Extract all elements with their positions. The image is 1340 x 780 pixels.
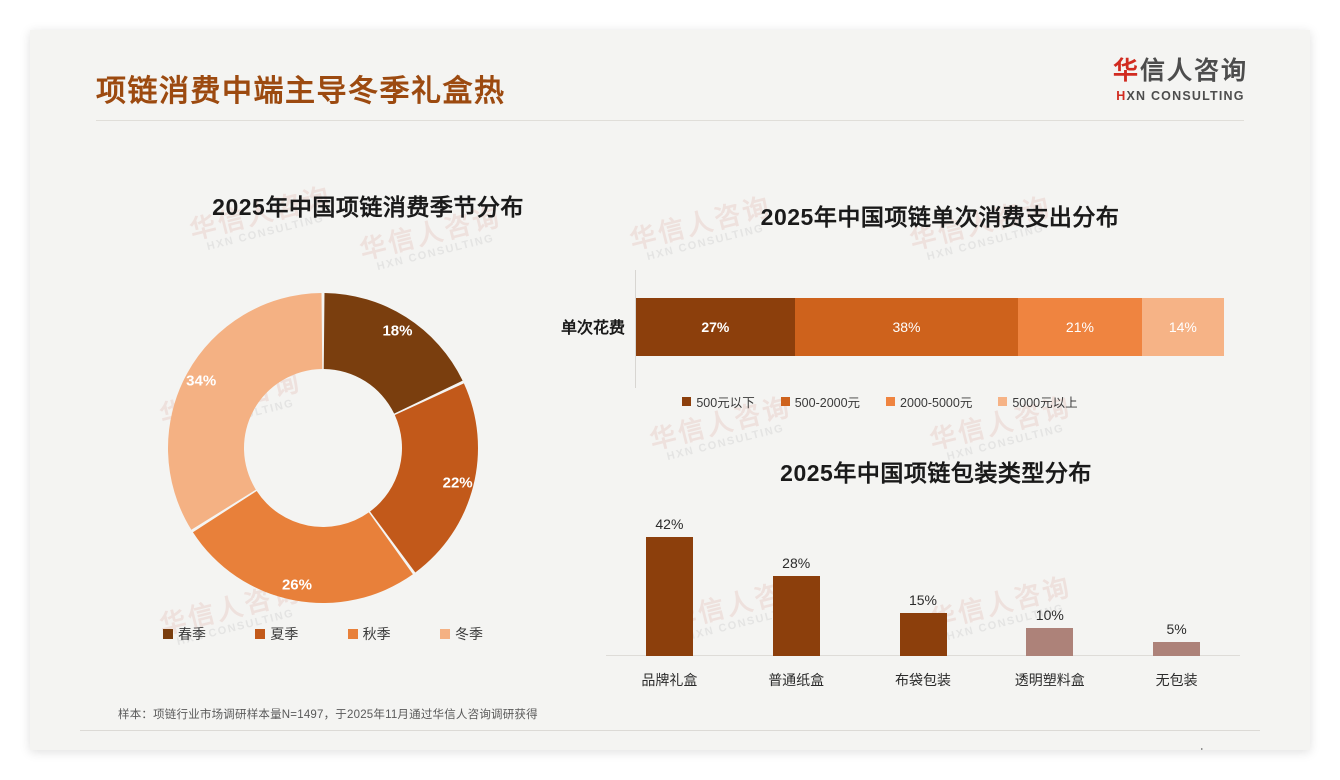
- segment-value: 14%: [1169, 319, 1197, 335]
- bar-category-label: 普通纸盒: [732, 656, 860, 690]
- logo-accent-char: 华: [1113, 57, 1140, 85]
- bar-rect[interactable]: [773, 576, 820, 656]
- legend-item-500元以下[interactable]: 500元以下: [682, 392, 754, 411]
- bar-rect[interactable]: [900, 613, 947, 656]
- legend-swatch: [163, 629, 173, 639]
- legend-item-春季[interactable]: 春季: [163, 624, 206, 644]
- stacked-segment-5000元以上[interactable]: 14%: [1142, 298, 1224, 356]
- legend-item-冬季[interactable]: 冬季: [440, 624, 483, 644]
- segment-value: 38%: [892, 319, 920, 335]
- donut-slice-label: 34%: [186, 373, 216, 390]
- legend-swatch: [886, 397, 895, 406]
- donut-chart: 18%22%26%34%: [163, 288, 483, 608]
- legend-label: 500元以下: [696, 392, 754, 411]
- legend-item-夏季[interactable]: 夏季: [255, 624, 298, 644]
- legend-swatch: [255, 629, 265, 639]
- logo-rest-chars: 信人咨询: [1140, 57, 1248, 85]
- slide-canvas: 华信人咨询HXN CONSULTING华信人咨询HXN CONSULTING华信…: [30, 30, 1310, 750]
- donut-slice-冬季[interactable]: [168, 293, 322, 530]
- bar-value-label: 28%: [782, 555, 810, 571]
- legend-swatch: [440, 629, 450, 639]
- bar-column-普通纸盒[interactable]: 28%普通纸盒: [732, 555, 860, 656]
- legend-label: 春季: [178, 624, 206, 644]
- legend-label: 5000元以上: [1012, 392, 1077, 411]
- legend-label: 500-2000元: [795, 392, 860, 411]
- slide-footer: ©2026.1 HXR华信人咨询 www.hxrcon.com: [30, 736, 1310, 750]
- company-logo: 华信人咨询 HXN CONSULTING: [1113, 58, 1248, 103]
- bar-category-label: 无包装: [1113, 656, 1241, 690]
- legend-item-秋季[interactable]: 秋季: [348, 624, 391, 644]
- footer-website[interactable]: www.hxrcon.com: [1173, 748, 1260, 750]
- bar-value-label: 15%: [909, 592, 937, 608]
- bar-category-label: 布袋包装: [859, 656, 987, 690]
- bar-category-label: 品牌礼盒: [605, 656, 733, 690]
- bar-column-无包装[interactable]: 5%无包装: [1113, 621, 1241, 656]
- header-divider: [96, 120, 1244, 121]
- donut-chart-legend: 春季夏季秋季冬季: [163, 624, 483, 644]
- bar-column-布袋包装[interactable]: 15%布袋包装: [859, 592, 987, 656]
- legend-swatch: [682, 397, 691, 406]
- segment-value: 21%: [1066, 319, 1094, 335]
- legend-item-5000元以上[interactable]: 5000元以上: [998, 392, 1077, 411]
- stacked-segment-500-2000元[interactable]: 38%: [795, 298, 1018, 356]
- bar-column-品牌礼盒[interactable]: 42%品牌礼盒: [605, 516, 733, 656]
- legend-label: 2000-5000元: [900, 392, 972, 411]
- bar-value-label: 42%: [655, 516, 683, 532]
- bar-rect[interactable]: [1026, 628, 1073, 656]
- bar-rect[interactable]: [646, 537, 693, 656]
- bar-chart-title: 2025年中国项链包装类型分布: [616, 454, 1256, 488]
- donut-slice-label: 18%: [382, 322, 412, 339]
- donut-slice-label: 26%: [282, 576, 312, 593]
- legend-label: 夏季: [270, 624, 298, 644]
- stacked-segment-2000-5000元[interactable]: 21%: [1018, 298, 1141, 356]
- bar-value-label: 5%: [1166, 621, 1186, 637]
- donut-svg: [163, 288, 483, 608]
- donut-chart-title: 2025年中国项链消费季节分布: [158, 188, 578, 222]
- logo-en-rest-chars: XN CONSULTING: [1127, 89, 1245, 103]
- stacked-bar-legend: 500元以下500-2000元2000-5000元5000元以上: [530, 392, 1230, 411]
- legend-swatch: [781, 397, 790, 406]
- stacked-bar-track: 27%38%21%14%: [636, 298, 1224, 356]
- bar-value-label: 10%: [1036, 607, 1064, 623]
- footer-copyright: ©2026.1 HXR华信人咨询: [80, 748, 209, 750]
- logo-chinese-text: 华信人咨询: [1113, 58, 1248, 86]
- stacked-segment-500元以下[interactable]: 27%: [636, 298, 795, 356]
- bar-chart: 42%品牌礼盒28%普通纸盒15%布袋包装10%透明塑料盒5%无包装: [606, 516, 1246, 702]
- stacked-bar-category-label: 单次花费: [530, 314, 625, 338]
- slide-header: 项链消费中端主导冬季礼盒热 华信人咨询 HXN CONSULTING: [30, 30, 1310, 122]
- logo-english-text: HXN CONSULTING: [1113, 89, 1248, 103]
- donut-slice-label: 22%: [443, 474, 473, 491]
- segment-value: 27%: [701, 319, 729, 335]
- stacked-bar-chart-title: 2025年中国项链单次消费支出分布: [630, 198, 1250, 232]
- page-title: 项链消费中端主导冬季礼盒热: [96, 66, 506, 110]
- source-footnote: 样本：项链行业市场调研样本量N=1497，于2025年11月通过华信人咨询调研获…: [118, 706, 1218, 722]
- legend-swatch: [348, 629, 358, 639]
- bar-rect[interactable]: [1153, 642, 1200, 656]
- footer-divider: [80, 730, 1260, 731]
- legend-item-500-2000元[interactable]: 500-2000元: [781, 392, 860, 411]
- logo-en-accent-char: H: [1116, 89, 1126, 103]
- legend-label: 秋季: [363, 624, 391, 644]
- bar-column-透明塑料盒[interactable]: 10%透明塑料盒: [986, 607, 1114, 656]
- bar-category-label: 透明塑料盒: [986, 656, 1114, 690]
- legend-item-2000-5000元[interactable]: 2000-5000元: [886, 392, 972, 411]
- stacked-bar-chart: 单次花费 27%38%21%14%: [530, 270, 1230, 395]
- legend-swatch: [998, 397, 1007, 406]
- legend-label: 冬季: [455, 624, 483, 644]
